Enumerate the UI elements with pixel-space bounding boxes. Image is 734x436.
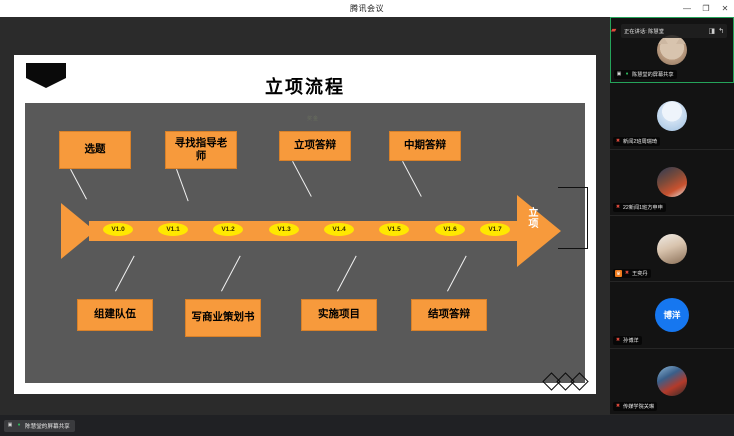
taskbar-item-label: 陈慧堂的屏幕共享 [25,422,70,430]
microphone-muted-icon: ✖ [615,138,621,144]
process-box-bottom: 组建队伍 [77,299,153,331]
shared-screen-stage[interactable]: 立项流程 奖金 立项 V1.0 [0,17,610,415]
version-node: V1.0 [103,223,133,236]
window-controls: — ❐ ✕ [682,0,730,17]
pin-icon[interactable]: ↰ [718,27,724,35]
banner-actions[interactable]: ◨ ↰ [709,27,725,35]
maximize-icon[interactable]: ❐ [701,3,711,14]
fishbone-diagram: 奖金 立项 V1.0 V1.1 V1.2 [25,103,585,383]
monitor-icon: ▣ [7,423,13,429]
process-box-bottom: 写商业策划书 [185,299,261,337]
title-bar: 腾讯会议 — ❐ ✕ [0,0,734,17]
participant-label: ▣ ♦ 陈慧堂的屏幕共享 [614,70,677,79]
minimize-icon[interactable]: — [682,3,692,14]
participant-label: ✖ 22新闻1班方申申 [613,203,666,212]
participant-label: ✖ 传媒学院关琳 [613,402,657,411]
avatar [657,167,687,197]
process-box-top: 中期答辩 [389,131,461,161]
close-icon[interactable]: ✕ [720,3,730,14]
spine-arrow-label: 立项 [523,207,539,229]
participant-tile[interactable]: ✖ 新闻2班周瑞琦 [610,83,734,149]
leader-line [221,256,241,292]
version-node: V1.6 [435,223,465,236]
speaking-flag-icon: ▰ [611,26,621,36]
microphone-muted-icon: ✖ [615,205,621,211]
tencent-meeting-window: 腾讯会议 — ❐ ✕ 立项流程 奖金 [0,0,734,436]
microphone-muted-icon: ✖ [615,404,621,410]
process-box-top: 立项答辩 [279,131,351,161]
participant-name: 王奕丹 [632,270,648,277]
version-node: V1.3 [269,223,299,236]
participant-tile[interactable]: ✖ 22新闻1班方申申 [610,150,734,216]
participant-label: ♛ ✖ 王奕丹 [613,269,651,278]
version-node: V1.5 [379,223,409,236]
participant-name: 传媒学院关琳 [623,403,654,410]
leader-line [292,161,312,197]
participant-tile[interactable]: 博洋 ✖ 孙博洋 [610,282,734,348]
participant-rail[interactable]: ▰ 正在讲话: 陈慧堂 ◨ ↰ ▣ ♦ 陈慧堂的屏幕共享 ✖ 新闻2班周瑞琦 [610,17,734,415]
participant-tile[interactable]: ▰ 正在讲话: 陈慧堂 ◨ ↰ ▣ ♦ 陈慧堂的屏幕共享 [610,17,734,83]
page-title: 立项流程 [14,73,596,99]
participant-label: ✖ 孙博洋 [613,336,642,345]
spine-right-arrow [517,195,561,267]
participant-name: 陈慧堂的屏幕共享 [632,71,674,78]
participant-name: 新闻2班周瑞琦 [623,138,657,145]
participant-name: 22新闻1班方申申 [623,204,663,211]
presentation-slide: 立项流程 奖金 立项 V1.0 [14,55,596,394]
leader-line [115,256,135,292]
participant-label: ✖ 新闻2班周瑞琦 [613,137,660,146]
taskbar-screenshare-item[interactable]: ▣ ♦ 陈慧堂的屏幕共享 [4,420,75,432]
version-node: V1.4 [324,223,354,236]
active-speaker-banner: 正在讲话: 陈慧堂 ◨ ↰ [621,24,727,38]
avatar [657,35,687,65]
host-badge-icon: ♛ [615,270,622,277]
version-node: V1.2 [213,223,243,236]
version-node: V1.1 [158,223,188,236]
avatar [657,366,687,396]
leader-line [447,256,467,292]
leader-line [337,256,357,292]
leader-line [402,161,422,197]
process-box-bottom: 实施项目 [301,299,377,331]
slide-decoration-chevrons [545,375,586,388]
monitor-icon: ▣ [616,72,622,78]
avatar [657,101,687,131]
process-box-top: 选题 [59,131,131,169]
chevron-icon [570,372,588,390]
avatar [657,234,687,264]
participant-tile[interactable]: ✖ 传媒学院关琳 [610,349,734,415]
participant-name: 孙博洋 [623,337,639,344]
active-speaker-label: 正在讲话: 陈慧堂 [624,27,664,35]
avatar: 博洋 [655,298,689,332]
outcome-bracket [558,187,588,249]
participant-tile[interactable]: ♛ ✖ 王奕丹 [610,216,734,282]
microphone-icon: ♦ [16,423,22,429]
process-box-bottom: 结项答辩 [411,299,487,331]
leader-line [176,169,189,201]
process-box-top: 寻找指导老师 [165,131,237,169]
taskbar: ▣ ♦ 陈慧堂的屏幕共享 [0,415,734,436]
diagram-watermark: 奖金 [307,115,319,122]
window-title: 腾讯会议 [350,3,384,14]
leader-line [70,169,87,200]
microphone-muted-icon: ✖ [624,271,630,277]
version-node: V1.7 [480,223,510,236]
microphone-icon: ♦ [624,72,630,78]
microphone-muted-icon: ✖ [615,337,621,343]
volume-icon[interactable]: ◨ [709,27,716,35]
